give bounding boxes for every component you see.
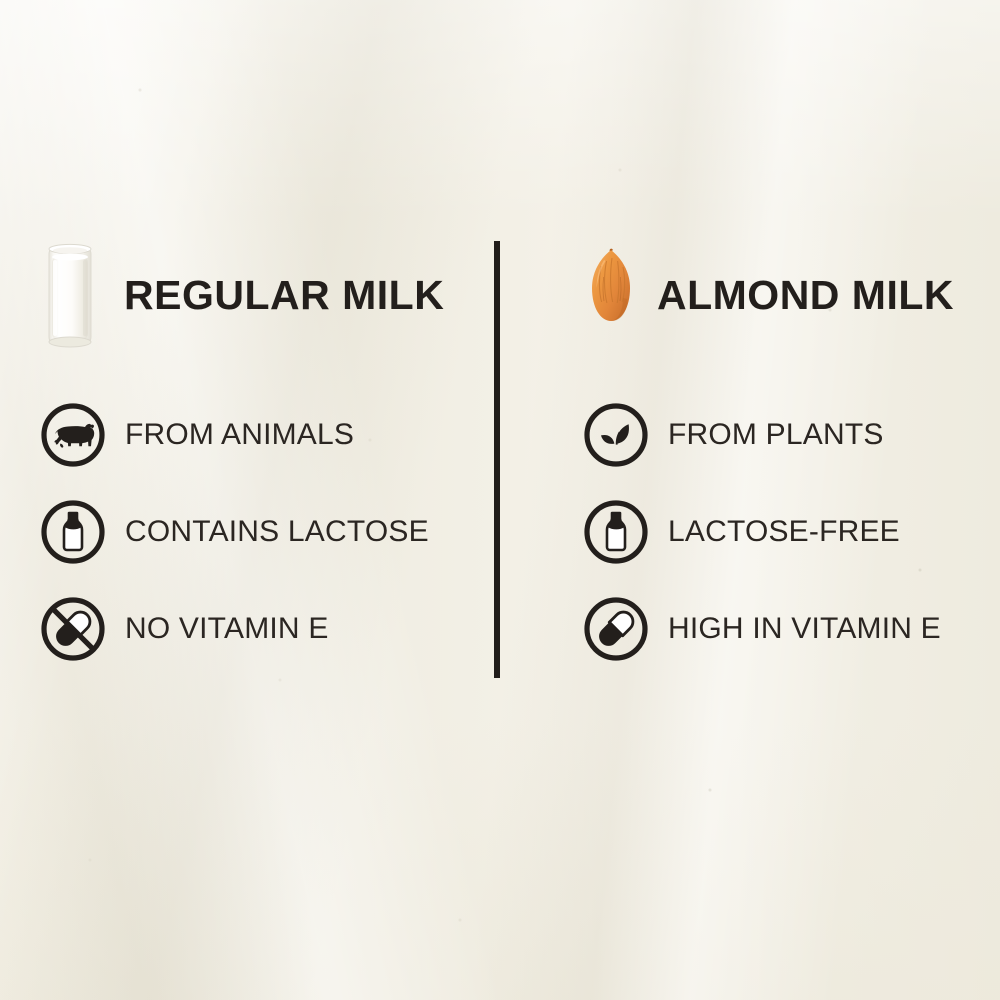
vertical-divider <box>494 241 500 678</box>
almond-milk-header: ALMOND MILK <box>583 236 983 354</box>
feature-row-from-plants[interactable]: FROM PLANTS <box>583 402 983 468</box>
feature-label-lactose-free: LACTOSE-FREE <box>668 517 900 547</box>
feature-row-lactose-free[interactable]: LACTOSE-FREE <box>583 499 983 565</box>
milk-bottle-icon <box>40 499 106 565</box>
pill-icon <box>583 596 649 662</box>
feature-row-from-animals[interactable]: FROM ANIMALS <box>40 402 480 468</box>
almond-milk-feature-list: FROM PLANTS LACTOSE-FREE <box>583 402 983 662</box>
leaves-icon <box>583 402 649 468</box>
page-title-regular-milk: REGULAR MILK <box>124 275 444 316</box>
feature-label-no-vitamin-e: NO VITAMIN E <box>125 614 329 644</box>
feature-label-contains-lactose: CONTAINS LACTOSE <box>125 517 429 547</box>
almond-illustration <box>583 236 639 354</box>
page-title-almond-milk: ALMOND MILK <box>657 275 954 316</box>
feature-row-contains-lactose[interactable]: CONTAINS LACTOSE <box>40 499 480 565</box>
feature-row-no-vitamin-e[interactable]: NO VITAMIN E <box>40 596 480 662</box>
column-almond-milk: ALMOND MILK FROM PLANTS <box>583 236 983 662</box>
regular-milk-header: REGULAR MILK <box>40 236 480 354</box>
pill-crossed-out-icon <box>40 596 106 662</box>
milk-bottle-icon <box>583 499 649 565</box>
milk-comparison-infographic: REGULAR MILK FROM ANIMALS <box>0 0 1000 1000</box>
feature-label-high-in-vitamin-e: HIGH IN VITAMIN E <box>668 614 941 644</box>
cow-icon <box>40 402 106 468</box>
feature-label-from-animals: FROM ANIMALS <box>125 420 354 450</box>
feature-label-from-plants: FROM PLANTS <box>668 420 884 450</box>
milk-glass-illustration <box>40 236 100 354</box>
regular-milk-feature-list: FROM ANIMALS CONTAINS LACTOSE <box>40 402 480 662</box>
feature-row-high-in-vitamin-e[interactable]: HIGH IN VITAMIN E <box>583 596 983 662</box>
column-regular-milk: REGULAR MILK FROM ANIMALS <box>40 236 480 662</box>
